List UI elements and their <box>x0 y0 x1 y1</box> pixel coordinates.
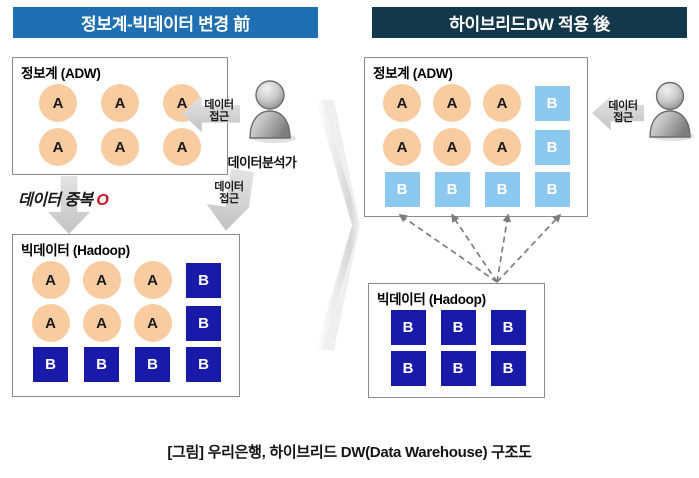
data-analyst-person-icon <box>244 78 296 144</box>
node-b: B <box>491 310 526 345</box>
node-a: A <box>32 304 70 342</box>
node-a: A <box>32 261 70 299</box>
node-b: B <box>186 263 221 298</box>
node-a: A <box>383 128 421 166</box>
banner-after: 하이브리드DW 적용 後 <box>372 7 687 38</box>
node-a: A <box>134 304 172 342</box>
node-a: A <box>163 128 201 166</box>
after-hadoop-box: 빅데이터 (Hadoop) BBBBBB <box>368 283 545 398</box>
node-b: B <box>391 351 426 386</box>
hadoop-to-adw-dashed-links <box>360 200 600 292</box>
node-b: B <box>441 351 476 386</box>
transition-chevron-icon <box>316 100 360 350</box>
after-adw-node-grid: AAABAAABBBBB <box>377 84 577 207</box>
before-hadoop-title: 빅데이터 (Hadoop) <box>21 239 130 259</box>
node-a: A <box>383 84 421 122</box>
node-b: B <box>491 351 526 386</box>
node-a: A <box>483 84 521 122</box>
diagram-canvas: 정보계-빅데이터 변경 前 하이브리드DW 적용 後 정보계 (ADW) AAA… <box>0 0 699 478</box>
node-a: A <box>101 84 139 122</box>
node-a: A <box>101 128 139 166</box>
node-b: B <box>84 347 119 382</box>
data-access-label-2: 데이터 접근 <box>206 181 252 206</box>
after-adw-title: 정보계 (ADW) <box>373 62 453 82</box>
before-adw-node-grid: AAAAAA <box>27 84 213 166</box>
node-a: A <box>433 128 471 166</box>
data-analyst-person-icon-right <box>645 80 697 142</box>
node-b: B <box>391 310 426 345</box>
data-access-label-1: 데이터 접근 <box>196 99 242 124</box>
data-access-label-3: 데이터 접근 <box>600 100 646 125</box>
after-adw-box: 정보계 (ADW) AAABAAABBBBB <box>364 57 588 217</box>
node-a: A <box>483 128 521 166</box>
before-hadoop-box: 빅데이터 (Hadoop) AAABAAABBBBB <box>12 234 240 397</box>
after-hadoop-node-grid: BBBBBB <box>383 310 533 386</box>
node-b: B <box>186 306 221 341</box>
node-b: B <box>535 86 570 121</box>
data-duplication-text: 데이터 중복 <box>18 192 92 209</box>
before-hadoop-node-grid: AAABAAABBBBB <box>25 261 229 382</box>
data-duplication-mark: O <box>96 192 108 209</box>
node-a: A <box>39 128 77 166</box>
node-a: A <box>134 261 172 299</box>
figure-caption: [그림] 우리은행, 하이브리드 DW(Data Warehouse) 구조도 <box>0 441 699 462</box>
data-analyst-label: 데이터분석가 <box>197 152 327 171</box>
node-b: B <box>33 347 68 382</box>
node-b: B <box>535 130 570 165</box>
node-a: A <box>433 84 471 122</box>
before-adw-title: 정보계 (ADW) <box>21 62 101 82</box>
node-a: A <box>83 304 121 342</box>
node-b: B <box>186 347 221 382</box>
node-b: B <box>135 347 170 382</box>
banner-before: 정보계-빅데이터 변경 前 <box>13 7 318 38</box>
node-a: A <box>83 261 121 299</box>
data-duplication-label: 데이터 중복 O <box>18 186 198 210</box>
node-a: A <box>39 84 77 122</box>
after-hadoop-title: 빅데이터 (Hadoop) <box>377 288 486 308</box>
node-b: B <box>441 310 476 345</box>
